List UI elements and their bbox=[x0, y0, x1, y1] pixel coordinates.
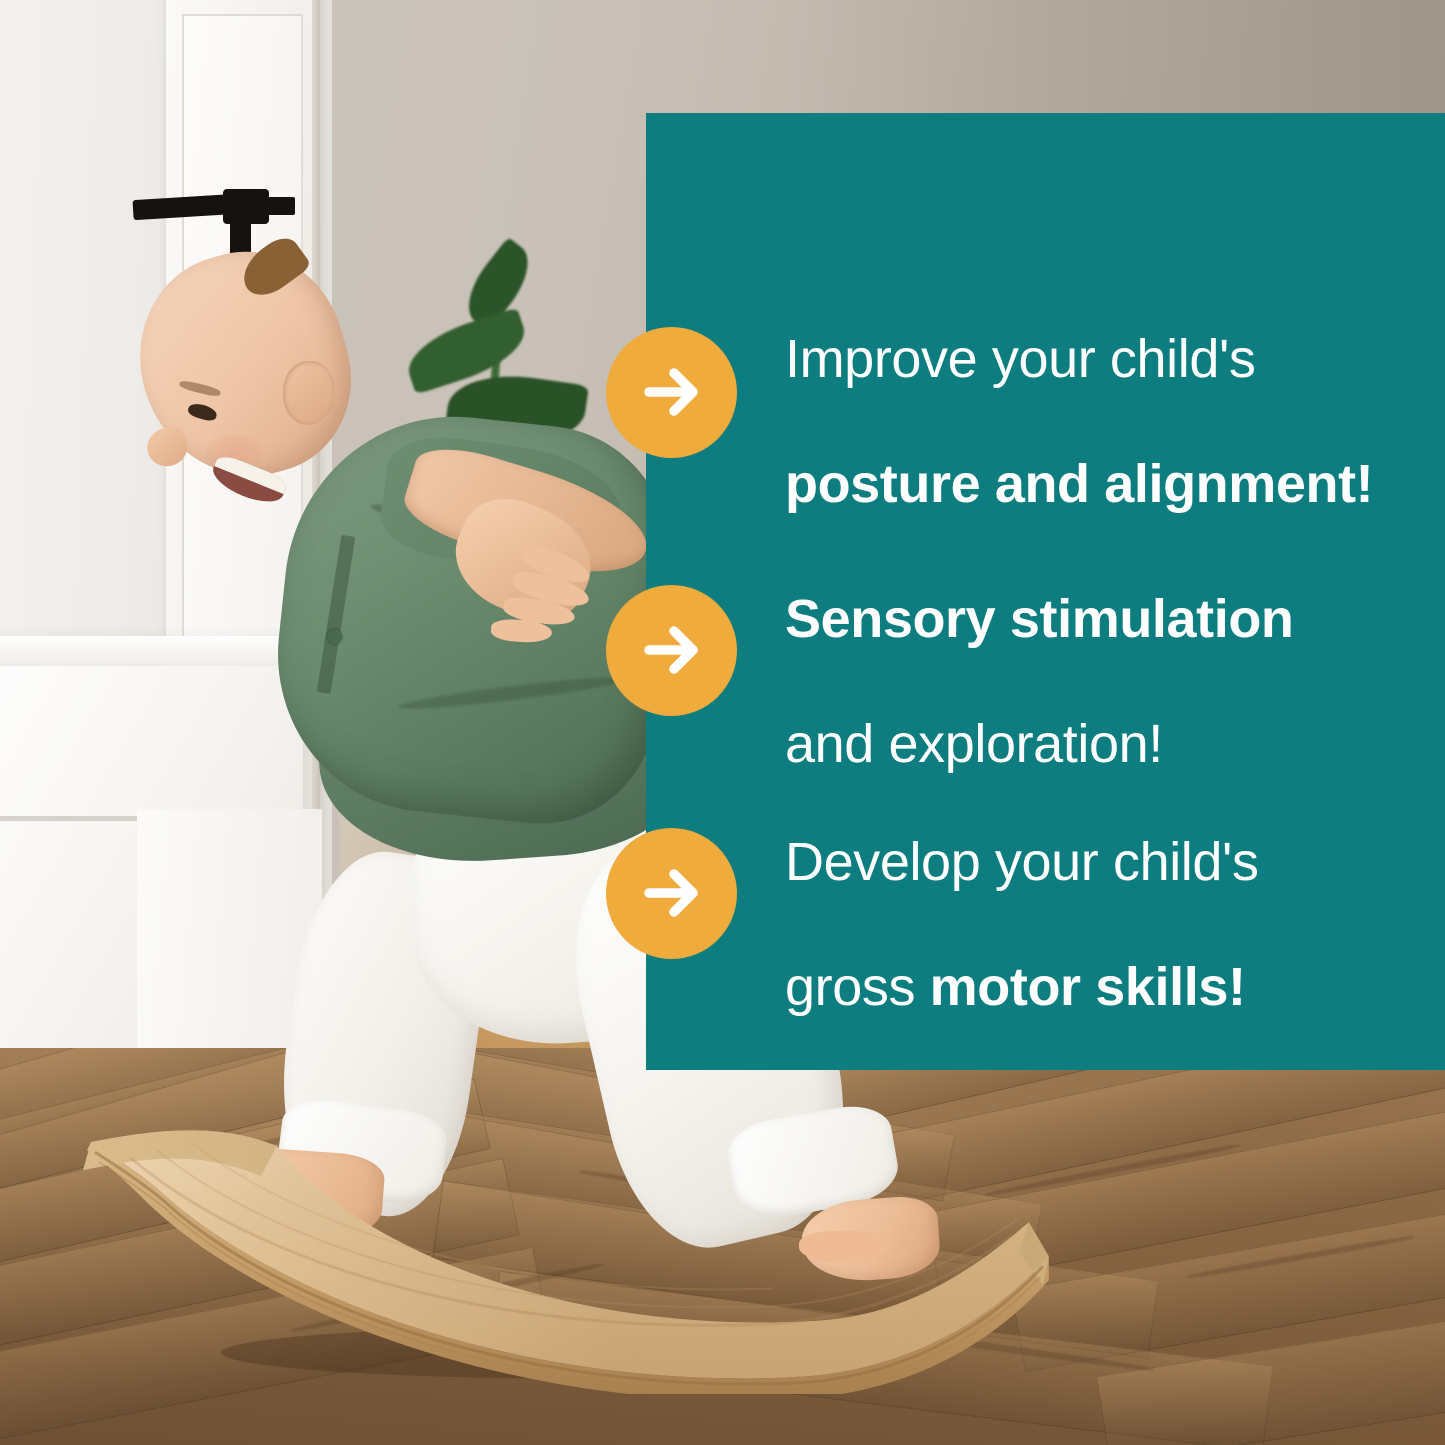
benefit-text-3: Develop your child's gross motor skills! bbox=[785, 768, 1259, 1019]
arrow-right-icon bbox=[606, 585, 737, 716]
benefit-text-1: Improve your child's posture and alignme… bbox=[785, 265, 1373, 520]
benefit-1-line-1: Improve your child's bbox=[785, 329, 1256, 389]
benefit-2-line-1: Sensory stimulation bbox=[785, 589, 1294, 649]
benefit-item-2: Sensory stimulation and exploration! bbox=[606, 525, 1294, 776]
benefit-item-3: Develop your child's gross motor skills! bbox=[606, 768, 1259, 1019]
benefit-item-1: Improve your child's posture and alignme… bbox=[606, 265, 1373, 520]
benefit-3-line-2-part-2: motor skills! bbox=[930, 957, 1246, 1017]
benefit-text-2: Sensory stimulation and exploration! bbox=[785, 525, 1294, 776]
benefit-2-line-2: and exploration! bbox=[785, 714, 1163, 774]
benefit-1-line-2: posture and alignment! bbox=[785, 454, 1373, 514]
benefit-3-line-1: Develop your child's bbox=[785, 832, 1259, 892]
arrow-right-icon bbox=[606, 327, 737, 458]
promo-image: Improve your child's posture and alignme… bbox=[0, 0, 1445, 1445]
benefits-list: Improve your child's posture and alignme… bbox=[646, 113, 1445, 1070]
wooden-balance-board bbox=[61, 1084, 1051, 1395]
arrow-right-icon bbox=[606, 828, 737, 959]
benefit-3-line-2-part-1: gross bbox=[785, 957, 930, 1017]
